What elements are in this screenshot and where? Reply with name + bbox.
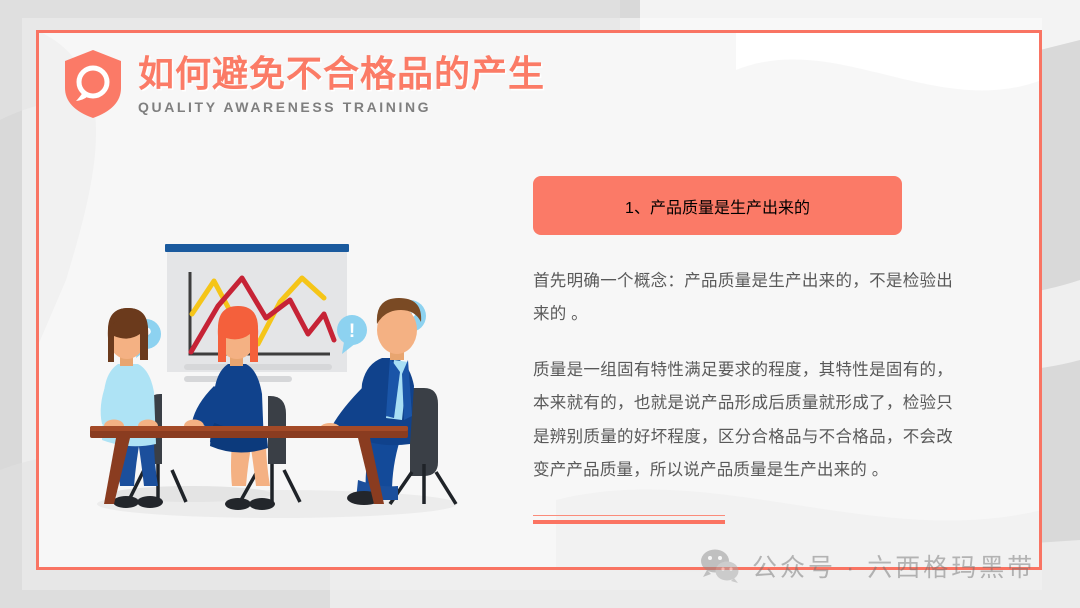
divider-rule-thin	[533, 515, 725, 517]
content-column: 1、产品质量是生产出来的 首先明确一个概念：产品质量是生产出来的，不是检验出来的…	[533, 176, 953, 524]
section-banner-label: 1、产品质量是生产出来的	[625, 194, 810, 218]
body-paragraph-2: 质量是一组固有特性满足要求的程度，其特性是固有的，本来就有的，也就是说产品形成后…	[533, 354, 953, 488]
divider-rule-thick	[533, 520, 725, 524]
svg-text:!: !	[349, 321, 355, 342]
watermark-label: 公众号 · 六西格玛黑带	[752, 548, 1035, 584]
page-subtitle: QUALITY AWARENESS TRAINING	[138, 99, 545, 115]
page-title: 如何避免不合格品的产生	[138, 55, 545, 93]
shield-magnifier-icon	[62, 48, 124, 120]
business-meeting-illustration: ? ! ?	[72, 236, 492, 526]
body-paragraph-1: 首先明确一个概念：产品质量是生产出来的，不是检验出来的 。	[533, 265, 953, 332]
slide-canvas: ? ! ?	[36, 30, 1042, 570]
slide-header: 如何避免不合格品的产生 QUALITY AWARENESS TRAINING	[62, 48, 545, 120]
section-divider	[533, 515, 725, 525]
wechat-icon	[700, 549, 740, 583]
watermark: 公众号 · 六西格玛黑带	[700, 548, 1035, 584]
section-banner: 1、产品质量是生产出来的	[533, 176, 902, 235]
